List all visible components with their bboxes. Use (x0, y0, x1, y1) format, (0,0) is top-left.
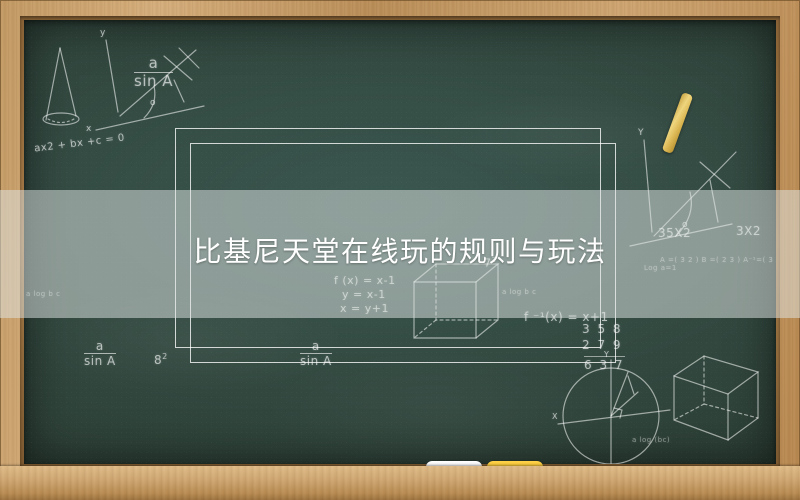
yellow-chalk-stick-top (662, 92, 694, 154)
log-expression-bottomright: a log (bc) (632, 436, 670, 444)
angle-label-topleft: o (150, 98, 156, 108)
chalkboard-banner: a sin A y x o ax2 + bx +c = 0 Y o f (x) … (0, 0, 800, 500)
axis-label-y-right: Y (638, 128, 644, 138)
angle-label-right: o (682, 220, 688, 230)
axis-label-y-topleft: y (100, 28, 106, 38)
fraction-a-over-sina-bottomleft: a sin A (84, 340, 116, 367)
chalk-ledge (0, 466, 800, 500)
log-expression-left: a log b c (26, 290, 60, 298)
eight-squared: 82 (154, 352, 168, 367)
page-title: 比基尼天堂在线玩的规则与玩法 (0, 232, 800, 272)
angle-diagram-right (630, 140, 736, 246)
circle-axes-drawing (558, 360, 670, 464)
axis-label-x-bottomright: X (552, 412, 558, 421)
quadratic-equation: ax2 + bx +c = 0 (34, 132, 126, 154)
cube-drawing-right (674, 356, 758, 440)
axis-label-x-topleft: x (86, 124, 92, 134)
fraction-a-over-sina-topleft: a sin A (134, 56, 173, 90)
angle-diagram-left (96, 40, 204, 130)
cone-drawing (43, 48, 79, 125)
